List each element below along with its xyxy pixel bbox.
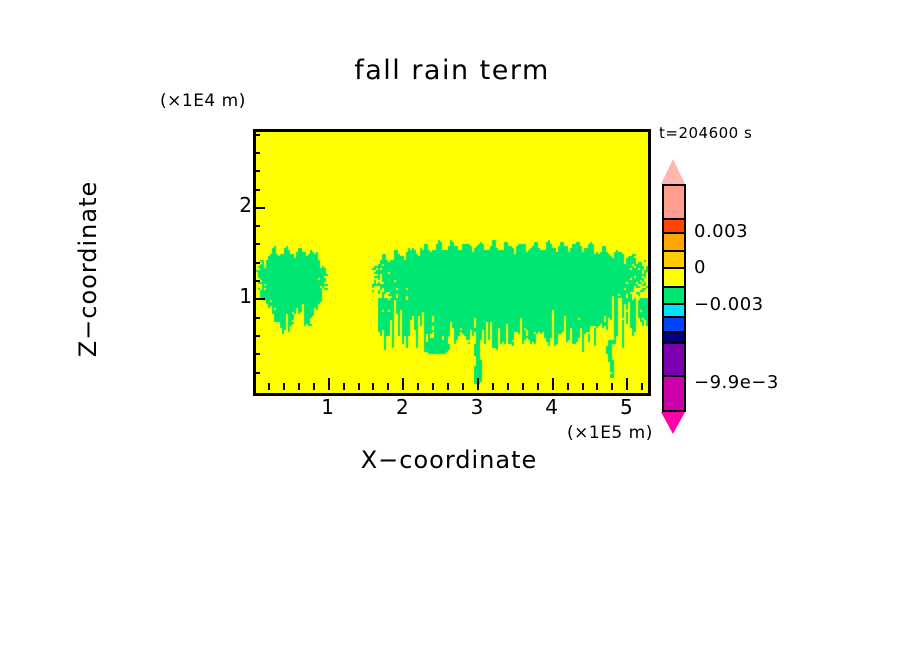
colorbar-band-salmon xyxy=(664,186,684,220)
y-minor-tick xyxy=(253,280,260,282)
colorbar-label: −9.9e−3 xyxy=(694,372,779,393)
y-axis-unit-label: (×1E4 m) xyxy=(160,91,246,111)
x-minor-tick xyxy=(283,383,285,390)
y-minor-tick xyxy=(253,152,260,154)
x-minor-tick xyxy=(268,383,270,390)
x-major-tick xyxy=(552,378,554,390)
colorbar-label: 0.003 xyxy=(694,221,748,242)
x-major-tick xyxy=(328,378,330,390)
y-tick-label: 2 xyxy=(212,193,252,217)
colorbar-band-purple xyxy=(664,344,684,377)
x-minor-tick xyxy=(567,383,569,390)
x-tick-label: 2 xyxy=(382,395,422,419)
x-axis-title: X−coordinate xyxy=(253,446,645,474)
x-tick-label: 5 xyxy=(606,395,646,419)
y-minor-tick xyxy=(253,134,260,136)
y-minor-tick xyxy=(253,353,260,355)
colorbar-band-blue xyxy=(664,318,684,333)
colorbar-label: −0.003 xyxy=(694,294,764,315)
y-minor-tick xyxy=(253,170,260,172)
x-minor-tick xyxy=(611,383,613,390)
x-minor-tick xyxy=(298,383,300,390)
x-minor-tick xyxy=(537,383,539,390)
colorbar-band-yellow xyxy=(664,269,684,288)
time-annotation: t=204600 s xyxy=(659,124,752,142)
x-major-tick xyxy=(626,378,628,390)
y-tick-label: 1 xyxy=(212,284,252,308)
page-title: fall rain term xyxy=(0,55,904,86)
y-minor-tick xyxy=(253,335,260,337)
x-minor-tick xyxy=(596,383,598,390)
colorbar-arrow-top xyxy=(661,159,685,184)
figure-canvas: fall rain term (×1E4 m) (×1E5 m) t=20460… xyxy=(0,0,904,654)
x-minor-tick xyxy=(343,383,345,390)
x-minor-tick xyxy=(387,383,389,390)
plot-area xyxy=(253,129,651,396)
colorbar-label: 0 xyxy=(694,257,706,278)
y-major-tick xyxy=(253,298,265,300)
colorbar-band-magenta xyxy=(664,377,684,410)
y-minor-tick xyxy=(253,317,260,319)
colorbar-band-green xyxy=(664,288,684,305)
colorbar xyxy=(662,184,686,412)
colorbar-band-orange xyxy=(664,234,684,252)
x-major-tick xyxy=(402,378,404,390)
x-minor-tick xyxy=(492,383,494,390)
y-minor-tick xyxy=(253,225,260,227)
x-minor-tick xyxy=(582,383,584,390)
x-tick-label: 3 xyxy=(457,395,497,419)
x-minor-tick xyxy=(432,383,434,390)
x-minor-tick xyxy=(313,383,315,390)
colorbar-band-cyan xyxy=(664,305,684,318)
x-minor-tick xyxy=(462,383,464,390)
x-minor-tick xyxy=(372,383,374,390)
y-axis-title: Z−coordinate xyxy=(74,119,102,419)
colorbar-band-gold xyxy=(664,252,684,269)
x-minor-tick xyxy=(507,383,509,390)
heatmap-field xyxy=(256,132,648,393)
y-minor-tick xyxy=(253,189,260,191)
x-minor-tick xyxy=(417,383,419,390)
x-major-tick xyxy=(477,378,479,390)
y-major-tick xyxy=(253,207,265,209)
x-minor-tick xyxy=(447,383,449,390)
x-axis-unit-label: (×1E5 m) xyxy=(567,423,653,443)
colorbar-band-navy xyxy=(664,333,684,344)
x-tick-label: 4 xyxy=(532,395,572,419)
colorbar-band-red-orange xyxy=(664,220,684,234)
x-tick-label: 1 xyxy=(308,395,348,419)
x-minor-tick xyxy=(641,383,643,390)
x-minor-tick xyxy=(358,383,360,390)
y-minor-tick xyxy=(253,243,260,245)
x-minor-tick xyxy=(522,383,524,390)
colorbar-arrow-bottom xyxy=(661,412,685,434)
y-minor-tick xyxy=(253,262,260,264)
y-minor-tick xyxy=(253,372,260,374)
